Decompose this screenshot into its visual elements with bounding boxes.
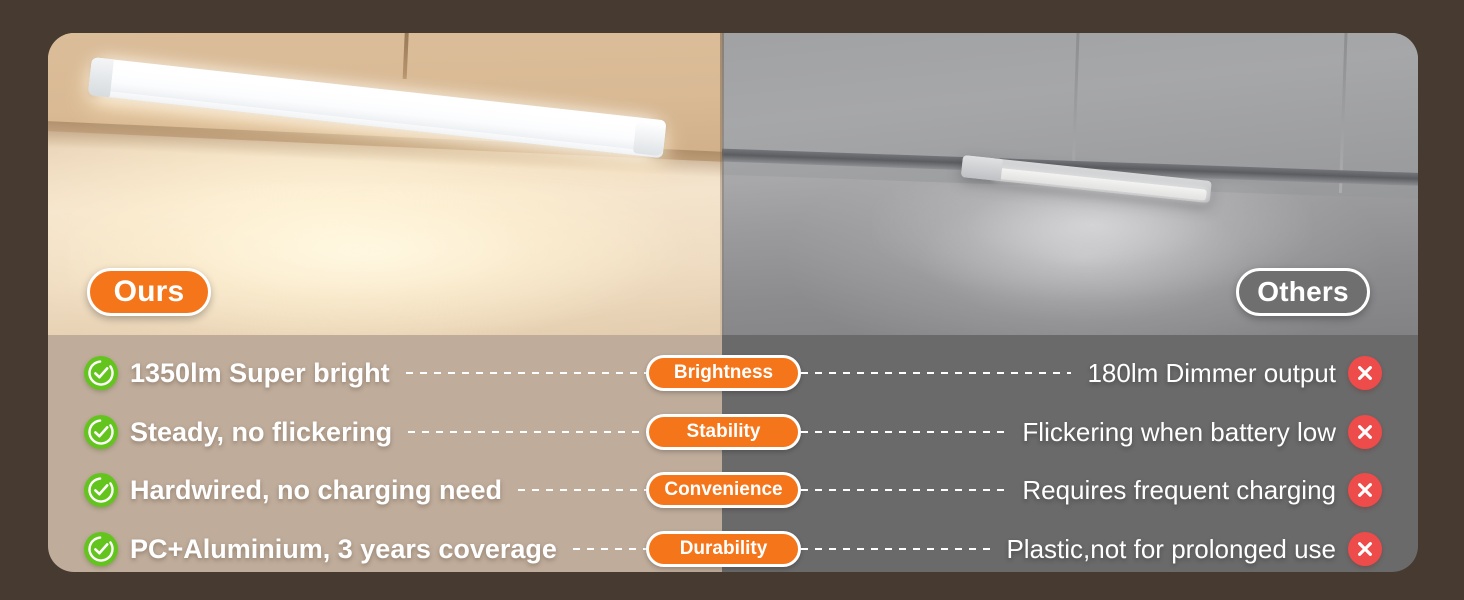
ours-led-tail-cap: [633, 121, 666, 156]
others-led-housing: [961, 155, 1003, 181]
row-ours-side: 1350lm Super bright: [84, 351, 694, 395]
photo-divider: [720, 33, 724, 335]
check-circle-icon: [84, 532, 118, 566]
photo-area: Ours Others: [48, 33, 1418, 335]
category-pill: Convenience: [646, 472, 801, 508]
x-circle-icon: [1348, 356, 1382, 390]
ours-feature-text: Hardwired, no charging need: [130, 475, 502, 506]
connector-dash-right: [801, 372, 1071, 374]
category-pill: Durability: [646, 531, 801, 567]
x-circle-icon: [1348, 532, 1382, 566]
category-pill: Stability: [646, 414, 801, 450]
row-others-side: Plastic,not for prolonged use: [801, 527, 1382, 571]
x-circle-icon: [1348, 415, 1382, 449]
connector-dash-right: [801, 431, 1006, 433]
check-circle-icon: [84, 473, 118, 507]
ours-feature-text: PC+Aluminium, 3 years coverage: [130, 534, 557, 565]
comparison-band: 1350lm Super bright Brightness 180lm Dim…: [48, 335, 1418, 572]
x-circle-icon: [1348, 473, 1382, 507]
ours-led-end-cap: [88, 57, 114, 97]
row-others-side: Requires frequent charging: [801, 468, 1382, 512]
others-feature-text: Flickering when battery low: [1022, 417, 1336, 448]
connector-dash-right: [801, 548, 990, 550]
badge-ours: Ours: [87, 268, 211, 316]
connector-dash-right: [801, 489, 1006, 491]
comparison-row: PC+Aluminium, 3 years coverage Durabilit…: [48, 527, 1418, 571]
others-feature-text: Requires frequent charging: [1022, 475, 1336, 506]
infographic-frame: Ours Others 1350lm Super bright: [0, 0, 1464, 600]
ours-feature-text: Steady, no flickering: [130, 417, 392, 448]
comparison-row: Steady, no flickering Stability Flickeri…: [48, 410, 1418, 454]
row-ours-side: PC+Aluminium, 3 years coverage: [84, 527, 694, 571]
check-circle-icon: [84, 356, 118, 390]
others-feature-text: 180lm Dimmer output: [1087, 358, 1336, 389]
comparison-row: 1350lm Super bright Brightness 180lm Dim…: [48, 351, 1418, 395]
row-ours-side: Steady, no flickering: [84, 410, 694, 454]
row-others-side: 180lm Dimmer output: [801, 351, 1382, 395]
comparison-panel: Ours Others 1350lm Super bright: [48, 33, 1418, 572]
check-circle-icon: [84, 415, 118, 449]
comparison-row: Hardwired, no charging need Convenience …: [48, 468, 1418, 512]
row-ours-side: Hardwired, no charging need: [84, 468, 694, 512]
badge-others: Others: [1236, 268, 1370, 316]
category-pill: Brightness: [646, 355, 801, 391]
row-others-side: Flickering when battery low: [801, 410, 1382, 454]
ours-feature-text: 1350lm Super bright: [130, 358, 390, 389]
others-feature-text: Plastic,not for prolonged use: [1006, 534, 1336, 565]
